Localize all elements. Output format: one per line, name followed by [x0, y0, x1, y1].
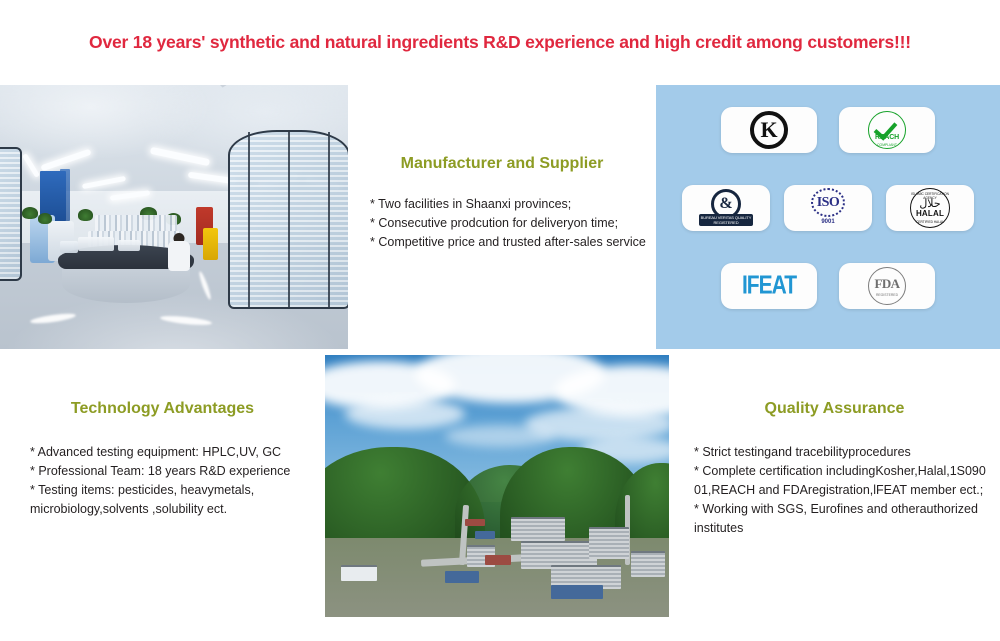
quality-registered-icon: & BUREAU VERITAS QUALITY REGISTERED — [699, 189, 753, 227]
cloud — [445, 425, 555, 447]
reach-sublabel: COMPLIANT — [869, 143, 905, 147]
manufacturer-bullet: * Two facilities in Shaanxi provinces; — [370, 195, 660, 214]
laboratory-panorama-image — [0, 85, 348, 349]
glass-mullion — [288, 132, 290, 307]
red-roof — [465, 519, 485, 526]
cert-card-fda[interactable]: FDA REGISTERED — [839, 263, 935, 309]
lab-instrument — [60, 241, 78, 253]
reach-icon: REACH COMPLIANT — [868, 111, 906, 149]
glass-mullion — [248, 132, 250, 307]
blue-roof — [551, 585, 603, 599]
cert-card-quality-registered[interactable]: & BUREAU VERITAS QUALITY REGISTERED — [682, 185, 770, 231]
town-panorama-image — [325, 355, 669, 617]
blue-roof — [445, 571, 479, 583]
cloud — [345, 399, 465, 429]
halal-label: HALAL — [916, 209, 944, 218]
glass-mullion — [328, 132, 330, 307]
lab-instrument — [78, 237, 114, 251]
lab-technician — [168, 233, 190, 277]
manufacturer-bullet: * Competitive price and trusted after-sa… — [370, 233, 660, 252]
person-lab-coat — [168, 241, 190, 271]
quality-title: Quality Assurance — [669, 400, 1000, 418]
lab-instrument — [118, 240, 140, 251]
manufacturer-bullet: * Consecutive prodcution for deliveryon … — [370, 214, 660, 233]
plant — [22, 207, 38, 219]
technology-bullet: * Advanced testing equipment: HPLC,UV, G… — [30, 443, 320, 462]
blue-roof — [475, 531, 495, 539]
halal-arabic-script: حلال — [919, 199, 940, 209]
apartment-block — [589, 527, 629, 559]
kosher-icon: K — [750, 111, 788, 149]
quality-band-label: BUREAU VERITAS QUALITY REGISTERED — [699, 214, 753, 226]
quality-bullet: institutes — [694, 519, 994, 538]
building — [631, 551, 665, 577]
quality-bullet: * Strict testingand tracebilityprocedure… — [694, 443, 994, 462]
iso-ring: ISO — [811, 188, 845, 217]
apartment-block — [511, 517, 565, 541]
glass-partition-room — [228, 130, 348, 309]
ifeat-icon: IFEAT — [742, 271, 796, 301]
quality-assurance-section: Quality Assurance * Strict testingand tr… — [669, 355, 1000, 605]
plant — [38, 213, 52, 224]
certification-row: & BUREAU VERITAS QUALITY REGISTERED ISO … — [656, 185, 1000, 231]
cert-card-ifeat[interactable]: IFEAT — [721, 263, 817, 309]
iso-number: 9001 — [821, 219, 834, 225]
fda-label: FDA — [875, 276, 900, 292]
cert-card-kosher[interactable]: K — [721, 107, 817, 153]
white-tent — [341, 565, 377, 581]
iso-label: ISO — [817, 195, 840, 211]
iso-icon: ISO 9001 — [802, 188, 854, 228]
cert-card-halal[interactable]: ISLAMIC CERTIFICATION AGENCY حلال HALAL … — [886, 185, 974, 231]
fda-sublabel: REGISTERED — [876, 293, 898, 297]
technology-bullet: microbiology,solvents ,solubility ect. — [30, 500, 320, 519]
manufacturer-section: Manufacturer and Supplier * Two faciliti… — [348, 85, 656, 349]
halal-top-text: ISLAMIC CERTIFICATION AGENCY — [911, 192, 949, 200]
window — [60, 169, 70, 221]
certification-row: K REACH COMPLIANT — [656, 107, 1000, 153]
halal-icon: ISLAMIC CERTIFICATION AGENCY حلال HALAL … — [910, 188, 950, 228]
fda-icon: FDA REGISTERED — [868, 267, 906, 305]
reach-label: REACH — [869, 134, 905, 141]
certification-row: IFEAT FDA REGISTERED — [656, 263, 1000, 309]
certifications-panel: K REACH COMPLIANT & BUREAU VERITAS QUALI… — [656, 85, 1000, 349]
cert-card-iso[interactable]: ISO 9001 — [784, 185, 872, 231]
manufacturer-bullets: * Two facilities in Shaanxi provinces; *… — [370, 195, 660, 252]
quality-bullet: 01,REACH and FDAregistration,lFEAT membe… — [694, 481, 994, 500]
technology-bullet: * Testing items: pesticides, heavymetals… — [30, 481, 320, 500]
quality-bullet: * Working with SGS, Eurofines and othera… — [694, 500, 994, 519]
red-roof — [485, 555, 511, 565]
glass-partition — [0, 147, 22, 281]
technology-title: Technology Advantages — [0, 400, 325, 418]
technology-section: Technology Advantages * Advanced testing… — [0, 355, 325, 605]
manufacturer-title: Manufacturer and Supplier — [348, 155, 656, 173]
quality-bullet: * Complete certification includingKosher… — [694, 462, 994, 481]
technology-bullet: * Professional Team: 18 years R&D experi… — [30, 462, 320, 481]
yellow-cabinet — [203, 228, 218, 260]
plant — [78, 209, 93, 221]
halal-bottom-text: CERTIFIED HALAL — [911, 220, 949, 224]
cert-card-reach[interactable]: REACH COMPLIANT — [839, 107, 935, 153]
quality-bullets: * Strict testingand tracebilityprocedure… — [694, 443, 994, 538]
technology-bullets: * Advanced testing equipment: HPLC,UV, G… — [30, 443, 320, 519]
page-headline: Over 18 years' synthetic and natural ing… — [0, 32, 1000, 53]
